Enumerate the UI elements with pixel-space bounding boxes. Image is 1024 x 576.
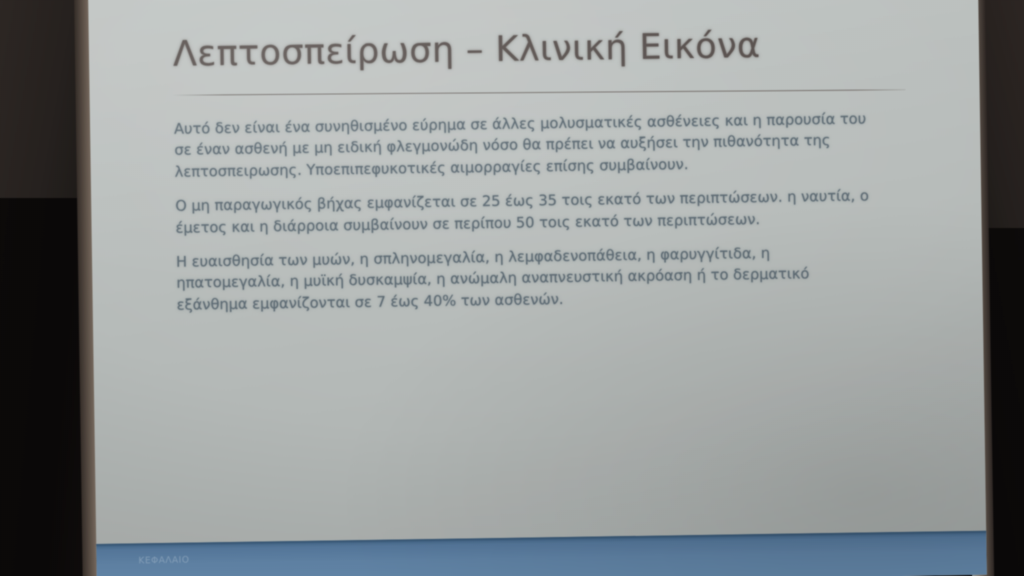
- photograph-of-projected-slide: Λεπτοσπείρωση – Κλινική Εικόνα Αυτό δεν …: [0, 0, 1024, 576]
- title-divider-rule: [174, 89, 906, 95]
- body-paragraph: Αυτό δεν είναι ένα συνηθισμένο εύρημα σε…: [174, 108, 915, 183]
- slide-body: Αυτό δεν είναι ένα συνηθισμένο εύρημα σε…: [174, 108, 917, 316]
- footer-label: ΚΕΦΑΛΑΙΟ: [138, 556, 189, 567]
- slide-footer-band: ΚΕΦΑΛΑΙΟ: [88, 530, 987, 576]
- slide-title: Λεπτοσπείρωση – Κλινική Εικόνα: [173, 26, 761, 75]
- body-paragraph: Η ευαισθησία των μυών, η σπληνομεγαλία, …: [176, 241, 917, 316]
- footer-band-top-edge: [88, 530, 987, 547]
- slide-content-area: Λεπτοσπείρωση – Κλινική Εικόνα Αυτό δεν …: [88, 0, 987, 576]
- body-paragraph: Ο μη παραγωγικός βήχας εμφανίζεται σε 25…: [175, 185, 916, 239]
- slide-canvas: Λεπτοσπείρωση – Κλινική Εικόνα Αυτό δεν …: [88, 0, 987, 576]
